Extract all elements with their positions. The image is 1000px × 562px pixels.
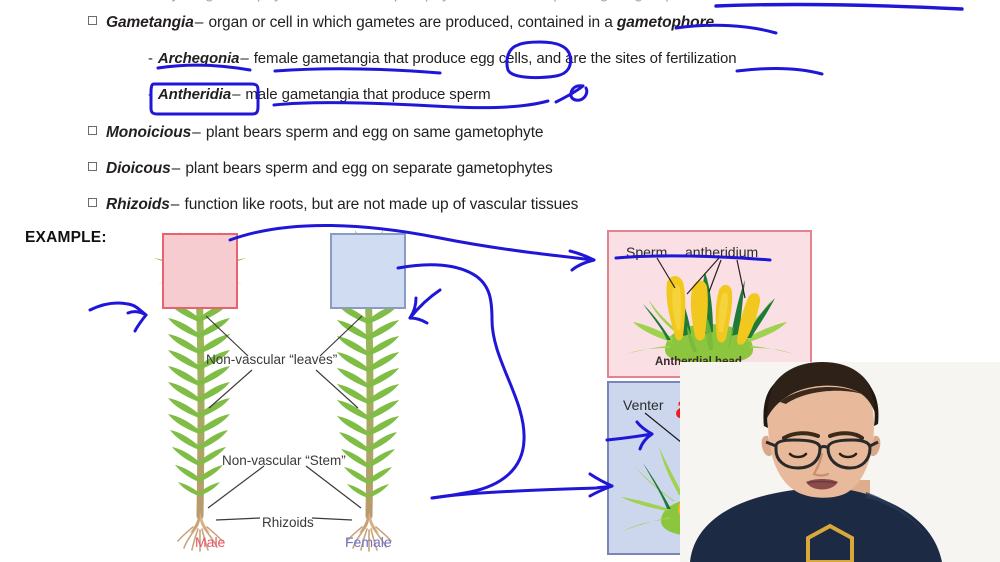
bullet-dioicous: Dioicous– plant bears sperm and egg on s… bbox=[88, 160, 553, 178]
term-monoicious: Monoicious bbox=[106, 124, 191, 141]
leader-lines bbox=[206, 316, 362, 520]
term-gametangia: Gametangia bbox=[106, 14, 194, 31]
label-male: Male bbox=[195, 534, 225, 550]
example-label: EXAMPLE: bbox=[25, 229, 107, 247]
label-non-vascular-stem: Non-vascular “Stem” bbox=[222, 453, 346, 468]
cut-off-top-line: may be gametophyte-dominant or sporophyt… bbox=[150, 0, 710, 3]
term-dioicous: Dioicous bbox=[106, 160, 171, 177]
label-female: Female bbox=[345, 534, 392, 550]
ink-underline-fertilization bbox=[737, 69, 822, 74]
ink-underline-top bbox=[716, 5, 962, 9]
dash-bullet-icon-1: - bbox=[148, 50, 153, 67]
bullet-archegonia-text: female gametangia that produce egg cells… bbox=[250, 50, 737, 67]
label-sperm: Sperm bbox=[626, 244, 667, 260]
dash-3: – bbox=[191, 124, 202, 141]
bullet-gametangia: Gametangia– organ or cell in which gamet… bbox=[88, 14, 714, 32]
slide-stage: may be gametophyte-dominant or sporophyt… bbox=[0, 0, 1000, 562]
term-gametophore: gametophore bbox=[617, 14, 714, 31]
dash-1: – bbox=[239, 50, 249, 67]
label-rhizoids: Rhizoids bbox=[262, 515, 314, 530]
bullet-archegonia: -Archegonia– female gametangia that prod… bbox=[148, 50, 736, 67]
term-archegonia: Archegonia bbox=[158, 50, 240, 67]
moss-diagram: Non-vascular “leaves” Non-vascular “Stem… bbox=[140, 228, 440, 562]
antheridium-image-panel: Sperm antheridium Antherdial head bbox=[607, 230, 812, 378]
dash-5: – bbox=[170, 196, 181, 213]
bullet-monoicious-text: plant bears sperm and egg on same gameto… bbox=[202, 124, 544, 141]
bullet-rhizoids-text: function like roots, but are not made up… bbox=[180, 196, 578, 213]
square-bullet-icon bbox=[88, 198, 97, 207]
bullet-rhizoids: Rhizoids– function like roots, but are n… bbox=[88, 196, 578, 214]
webcam-overlay bbox=[680, 362, 1000, 562]
bullet-antheridia: -Antheridia– male gametangia that produc… bbox=[148, 86, 491, 103]
male-highlight-box bbox=[162, 233, 238, 309]
bullet-antheridia-text: male gametangia that produce sperm bbox=[241, 86, 490, 103]
cut-off-top-line-text: may be gametophyte-dominant or sporophyt… bbox=[150, 0, 710, 3]
ink-arrow-to-male-box bbox=[90, 303, 146, 315]
ink-underline-female-gametangia bbox=[275, 69, 440, 73]
dash-0: – bbox=[194, 14, 205, 31]
square-bullet-icon bbox=[88, 162, 97, 171]
female-highlight-box bbox=[330, 233, 406, 309]
dash-bullet-icon-2: - bbox=[148, 86, 153, 103]
bullet-dioicous-text: plant bears sperm and egg on separate ga… bbox=[181, 160, 552, 177]
term-rhizoids: Rhizoids bbox=[106, 196, 170, 213]
label-antheridium: antheridium bbox=[685, 244, 758, 260]
term-antheridia: Antheridia bbox=[158, 86, 231, 103]
square-bullet-icon bbox=[88, 126, 97, 135]
label-non-vascular-leaves: Non-vascular “leaves” bbox=[206, 352, 337, 367]
bullet-monoicious: Monoicious– plant bears sperm and egg on… bbox=[88, 124, 543, 142]
bullet-gametangia-text: organ or cell in which gametes are produ… bbox=[204, 14, 617, 31]
dash-4: – bbox=[171, 160, 182, 177]
square-bullet-icon bbox=[88, 16, 97, 25]
label-venter: Venter bbox=[623, 397, 663, 413]
ink-curl-arrow-sperm bbox=[556, 86, 587, 102]
ink-arrow-into-archegonium bbox=[432, 486, 612, 498]
dash-2: – bbox=[231, 86, 241, 103]
webcam-person bbox=[680, 362, 1000, 562]
